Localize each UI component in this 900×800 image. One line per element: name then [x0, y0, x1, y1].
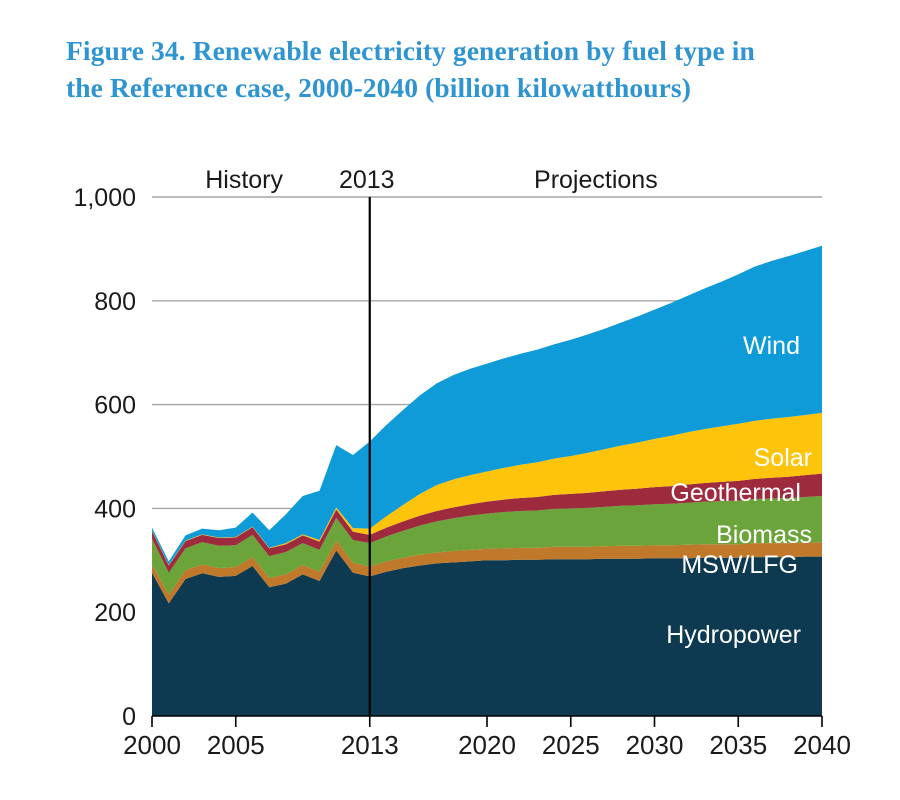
x-axis-tick-label: 2005 [207, 730, 265, 760]
series-label-biomass: Biomass [716, 521, 812, 549]
x-axis-tick-label: 2000 [123, 730, 181, 760]
x-axis-tick-label: 2040 [793, 730, 851, 760]
x-axis-labels-group: 20002005201320202025203020352040 [123, 730, 851, 760]
x-axis-tick-label: 2030 [626, 730, 684, 760]
x-axis-tick-label: 2025 [542, 730, 600, 760]
x-axis-tick-label: 2013 [341, 730, 399, 760]
y-axis-tick-label: 400 [94, 495, 136, 523]
chart-container: 02004006008001,000 200020052013202020252… [0, 0, 900, 800]
x-axis-tick-label: 2035 [709, 730, 767, 760]
figure-root: Figure 34. Renewable electricity generat… [0, 0, 900, 800]
annotation-history: History [205, 166, 283, 194]
stacked-area-chart: 02004006008001,000 200020052013202020252… [0, 0, 900, 800]
y-axis-labels-group: 02004006008001,000 [73, 184, 136, 731]
series-label-hydropower: Hydropower [666, 621, 801, 649]
y-axis-tick-label: 0 [122, 703, 136, 731]
y-axis-tick-label: 800 [94, 288, 136, 316]
y-axis-tick-label: 600 [94, 392, 136, 420]
series-label-solar: Solar [754, 444, 812, 472]
series-label-wind: Wind [743, 332, 800, 360]
series-label-msw-lfg: MSW/LFG [681, 551, 798, 579]
y-axis-tick-label: 1,000 [73, 184, 136, 212]
annotation-projections: Projections [534, 166, 658, 194]
annotation-divider-year: 2013 [339, 166, 395, 194]
series-label-geothermal: Geothermal [670, 479, 801, 507]
y-axis-tick-label: 200 [94, 599, 136, 627]
x-axis-tick-label: 2020 [458, 730, 516, 760]
x-tick-marks-group [152, 716, 822, 727]
